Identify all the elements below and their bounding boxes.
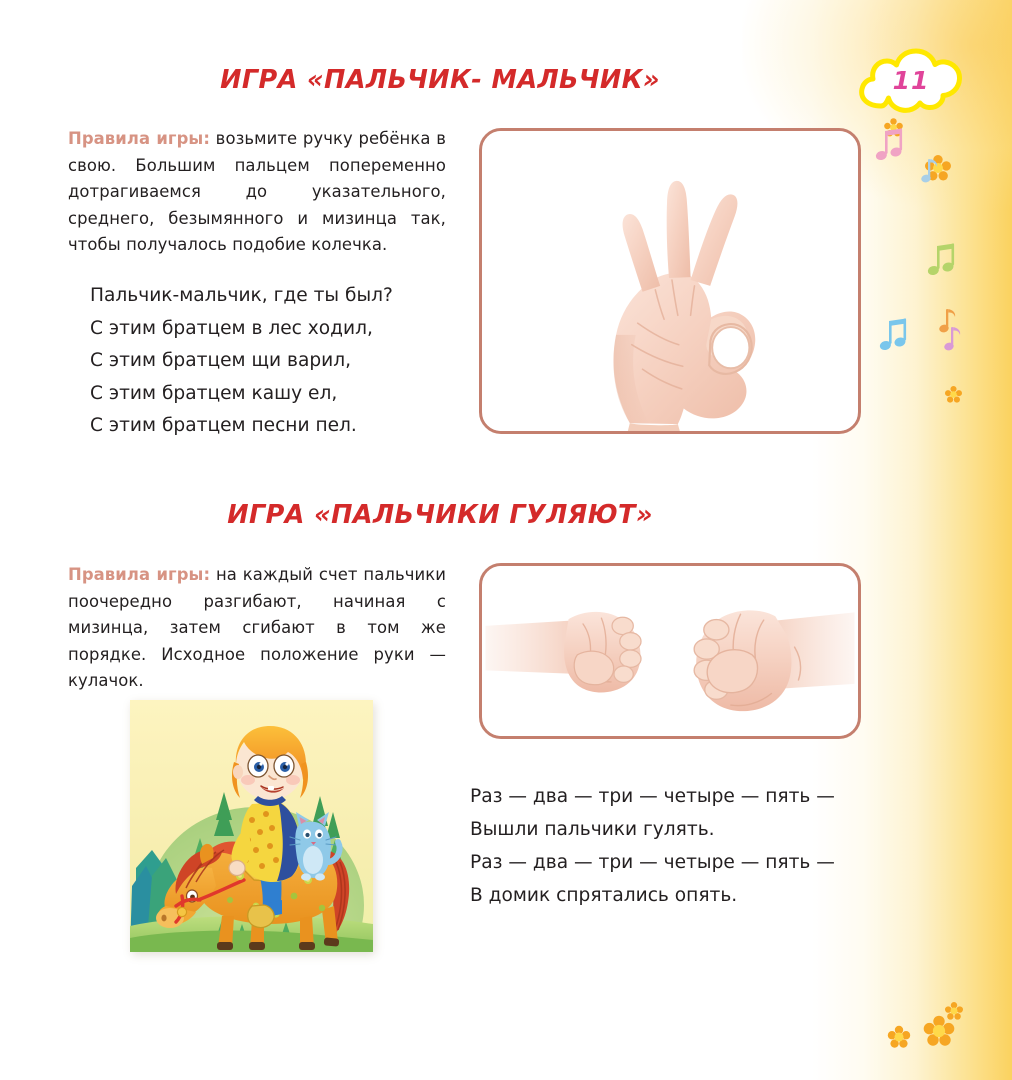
section-title-1: ИГРА «ПАЛЬЧИК- МАЛЬЧИК» [0,65,880,95]
verse-line: Раз — два — три — четыре — пять — [470,846,835,879]
photo-hand-ok-gesture [479,128,861,434]
verse-line: С этим братцем щи варил, [90,345,393,378]
music-note-icon [945,325,967,353]
illustration-child-on-pony [130,700,373,952]
hand-ok-ring-illustration [482,131,858,431]
photo-two-fists [479,563,861,739]
music-note-icon [922,157,944,185]
verse-line: Раз — два — три — четыре — пять — [470,780,835,813]
music-note-icon [940,307,962,335]
verse-line: В домик спрятались опять. [470,879,835,912]
music-note-icon [880,318,914,354]
rules-label-2: Правила игры: [68,565,210,584]
flower-icon [884,118,903,137]
music-note-icon [876,128,910,164]
music-note-icon [928,243,962,279]
flower-icon [925,155,951,181]
verse-line: С этим братцем кашу ел, [90,378,393,411]
verse-line: Пальчик-мальчик, где ты был? [90,280,393,313]
rules-paragraph-1: Правила игры: возьмите ручку ребёнка в с… [68,126,446,259]
verse-line: С этим братцем песни пел. [90,410,393,443]
book-page: 11 [0,0,1012,1080]
verse-1: Пальчик-мальчик, где ты был? С этим брат… [90,280,393,443]
verse-line: С этим братцем в лес ходил, [90,313,393,346]
verse-line: Вышли пальчики гулять. [470,813,835,846]
flower-icon [945,386,962,403]
two-fists-illustration [482,566,858,736]
verse-2: Раз — два — три — четыре — пять — Вышли … [470,780,835,912]
rules-label-1: Правила игры: [68,129,210,148]
rules-paragraph-2: Правила игры: на каждый счет пальчики по… [68,562,446,695]
flower-icon [888,1026,910,1048]
child-pony-cat-drawing [130,700,373,952]
flower-icon [924,1016,954,1046]
flower-icon [945,1002,963,1020]
section-title-2: ИГРА «ПАЛЬЧИКИ ГУЛЯЮТ» [0,500,880,530]
